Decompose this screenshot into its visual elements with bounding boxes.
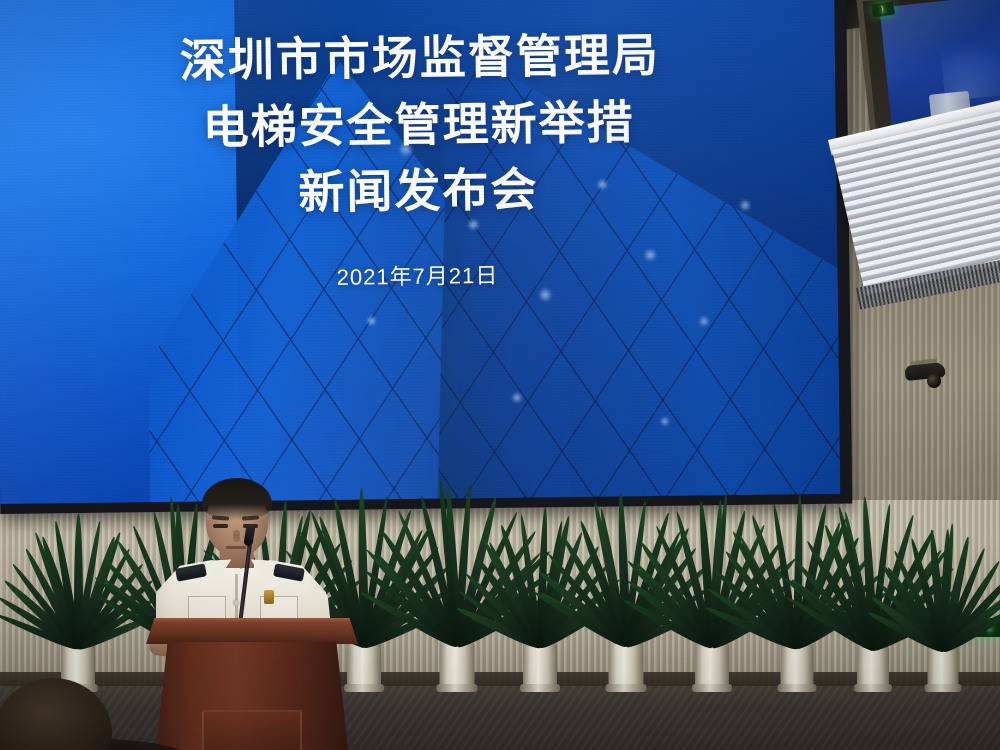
speaker-eye-left <box>213 524 228 528</box>
podium-top-surface <box>146 618 358 644</box>
podium <box>146 618 358 750</box>
speaker-name-badge <box>264 590 274 604</box>
speaker-nose <box>233 530 240 542</box>
slide-title-line-2: 电梯安全管理新举措 <box>196 89 635 161</box>
led-screen: 深圳市市场监督管理局 电梯安全管理新举措 新闻发布会 2021年7月21日 <box>0 0 840 504</box>
plant-pot <box>928 647 959 688</box>
speaker-hair <box>202 478 272 520</box>
slide-title-line-1: 深圳市市场监督管理局 <box>169 22 660 95</box>
led-screen-bezel: 深圳市市场监督管理局 电梯安全管理新举措 新闻发布会 2021年7月21日 <box>0 0 852 514</box>
exit-running-man-upper-icon: 🚶 <box>878 5 888 14</box>
plant-pot <box>609 642 644 688</box>
camera-lens <box>927 374 941 388</box>
potted-plant <box>884 505 1000 688</box>
speaker-mouth <box>226 546 246 549</box>
slide-title-line-3: 新闻发布会 <box>294 157 539 227</box>
slide-date: 2021年7月21日 <box>336 258 498 292</box>
plant-pot <box>781 644 814 688</box>
security-camera-icon <box>905 360 949 390</box>
speaker-shirt-button <box>233 600 239 606</box>
plant-pot <box>695 643 729 688</box>
plant-pot <box>523 643 557 688</box>
plant-pot <box>440 642 475 688</box>
plant-leaves <box>884 509 1000 651</box>
photo-canvas: 深圳市市场监督管理局 电梯安全管理新举措 新闻发布会 2021年7月21日 ←🚶… <box>0 0 1000 750</box>
podium-front-panel <box>202 710 302 750</box>
slide-text-block: 深圳市市场监督管理局 电梯安全管理新举措 新闻发布会 2021年7月21日 <box>0 0 840 504</box>
